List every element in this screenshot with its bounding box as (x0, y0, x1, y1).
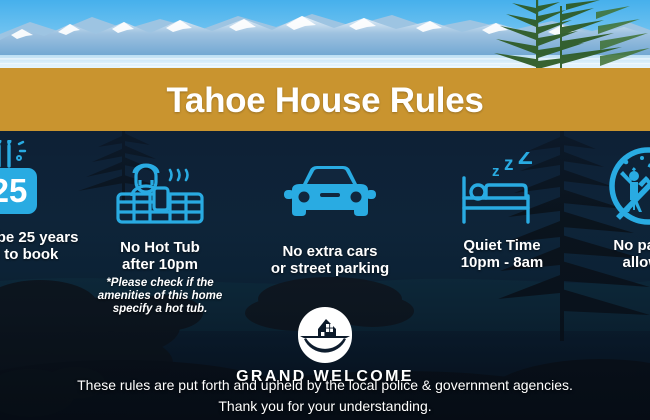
rule-label-parking: No extra cars or street parking (271, 244, 389, 278)
rule-label-no-parties: No parties allowed (613, 238, 650, 272)
no-parties-icon (604, 148, 650, 226)
car-icon (276, 154, 384, 232)
bed-sleep-icon: z z Z (454, 148, 550, 226)
footer-line-1: These rules are put forth and upheld by … (0, 375, 650, 396)
page-title: Tahoe House Rules (166, 83, 483, 118)
rule-label-age: Must be 25 years old to book (0, 230, 78, 264)
age-badge-number: 25 (0, 172, 27, 209)
tahoe-mountain-photo (0, 0, 650, 71)
svg-text:z: z (504, 154, 514, 175)
rule-item-quiet-time: z z Z Quiet Time 10pm - 8am (432, 148, 572, 272)
title-banner: Tahoe House Rules (0, 68, 650, 132)
rules-icon-row: 25 Must be 25 years old to book (0, 140, 650, 300)
rule-item-no-parties: No parties allowed (575, 148, 650, 272)
house-rules-poster: Tahoe House Rules (0, 0, 650, 420)
rule-label-quiet-time: Quiet Time 10pm - 8am (461, 238, 544, 272)
rule-item-hot-tub: No Hot Tub after 10pm *Please check if t… (85, 150, 235, 316)
brand-logo-block: GRAND WELCOME (0, 305, 650, 386)
rule-label-hot-tub: No Hot Tub after 10pm (120, 240, 200, 274)
rule-item-age: 25 Must be 25 years old to book (0, 140, 93, 264)
footer-line-2: Thank you for your understanding. (0, 396, 650, 417)
rule-item-parking: No extra cars or street parking (250, 154, 410, 278)
hot-tub-icon (112, 150, 208, 228)
grand-welcome-house-logo-icon (296, 305, 354, 363)
birthday-cake-25-icon: 25 (0, 140, 61, 218)
footer-disclaimer: These rules are put forth and upheld by … (0, 375, 650, 417)
svg-text:z: z (492, 163, 500, 180)
svg-text:Z: Z (518, 152, 533, 170)
